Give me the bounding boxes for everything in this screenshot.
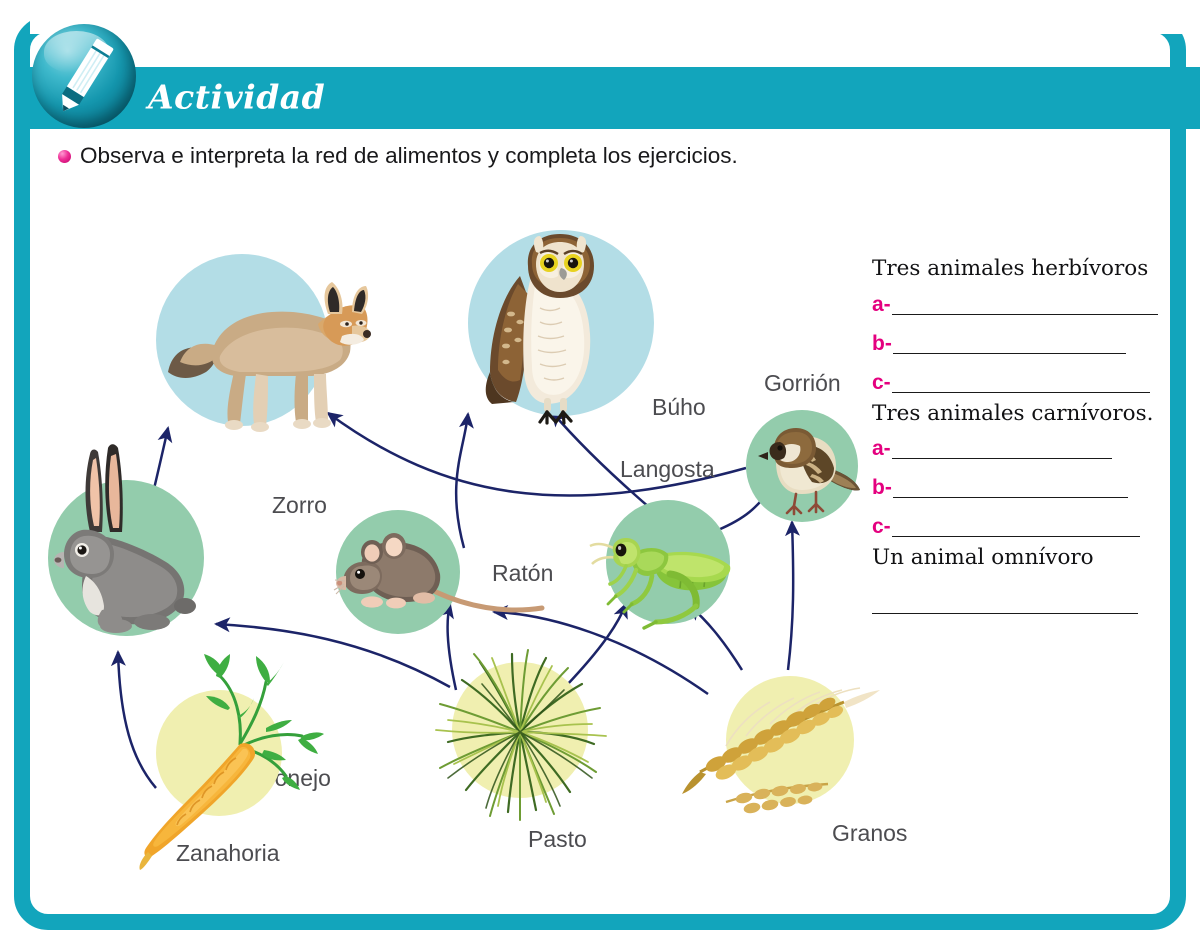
label-raton: Ratón [492, 560, 553, 587]
question-heading: Tres animales herbívoros [872, 258, 1158, 280]
worksheet-page: Actividad Observa [0, 0, 1200, 946]
label-zorro: Zorro [272, 492, 327, 519]
answer-row[interactable]: b- [872, 477, 1128, 498]
activity-banner: Actividad [120, 67, 1200, 129]
answer-blank-a[interactable] [892, 300, 1158, 315]
answer-row[interactable]: c- [872, 516, 1140, 537]
node-zanahoria: Zanahoria [116, 640, 346, 870]
question-heading: Tres animales carnívoros. [872, 403, 1158, 425]
question-block-carnivoros: Tres animales carnívoros. a- b- c- [872, 403, 1158, 538]
answer-blank-c[interactable] [892, 522, 1140, 537]
node-conejo: Conejo [46, 440, 236, 640]
node-zorro: Zorro [156, 240, 356, 440]
question-block-omnivoro: Un animal omnívoro [872, 547, 1158, 614]
answer-row[interactable] [872, 599, 1138, 614]
header-notch [30, 0, 1200, 34]
rabbit-illustration [46, 440, 236, 645]
label-gorrion: Gorrión [764, 370, 841, 397]
answer-letter: c- [872, 372, 891, 393]
label-zanahoria: Zanahoria [176, 840, 280, 867]
answer-blank-c[interactable] [892, 378, 1150, 393]
node-granos: Granos [666, 650, 906, 850]
answer-letter: b- [872, 333, 892, 354]
bullet-dot-icon [58, 150, 71, 163]
question-block-herbivoros: Tres animales herbívoros a- b- c- [872, 258, 1158, 393]
label-granos: Granos [832, 820, 907, 847]
answer-letter: c- [872, 516, 891, 537]
answer-row[interactable]: b- [872, 333, 1126, 354]
node-langosta: Langosta [574, 500, 764, 640]
grass-illustration [396, 640, 636, 860]
answer-blank-b[interactable] [893, 483, 1128, 498]
question-heading: Un animal omnívoro [872, 547, 1158, 569]
carrot-illustration [116, 640, 346, 870]
grasshopper-illustration [574, 500, 764, 640]
instruction-text: Observa e interpreta la red de alimentos… [80, 143, 738, 169]
answer-letter: a- [872, 294, 891, 315]
instruction-line: Observa e interpreta la red de alimentos… [58, 143, 738, 169]
answer-row[interactable]: a- [872, 438, 1112, 459]
answer-letter: b- [872, 477, 892, 498]
answer-blank-omnivoro[interactable] [872, 599, 1138, 614]
label-buho: Búho [652, 394, 706, 421]
arrow-granos-gorrion [788, 522, 793, 670]
owl-illustration [428, 222, 648, 442]
node-raton: Ratón [336, 510, 586, 640]
node-buho: Búho [428, 222, 648, 432]
sparrow-illustration [746, 410, 876, 540]
food-web-diagram: Zorro [46, 200, 866, 880]
label-pasto: Pasto [528, 826, 587, 853]
answer-row[interactable]: a- [872, 294, 1158, 315]
node-gorrion: Gorrión [746, 410, 876, 540]
answer-letter: a- [872, 438, 891, 459]
answer-blank-b[interactable] [893, 339, 1126, 354]
page-title: Actividad [148, 78, 325, 117]
answer-row[interactable]: c- [872, 372, 1150, 393]
node-pasto: Pasto [396, 640, 636, 860]
fox-illustration [156, 240, 371, 440]
pencil-icon [32, 24, 136, 128]
label-langosta: Langosta [620, 456, 715, 483]
answer-blank-a[interactable] [892, 444, 1112, 459]
questions-panel: Tres animales herbívoros a- b- c- Tres a… [872, 258, 1158, 614]
